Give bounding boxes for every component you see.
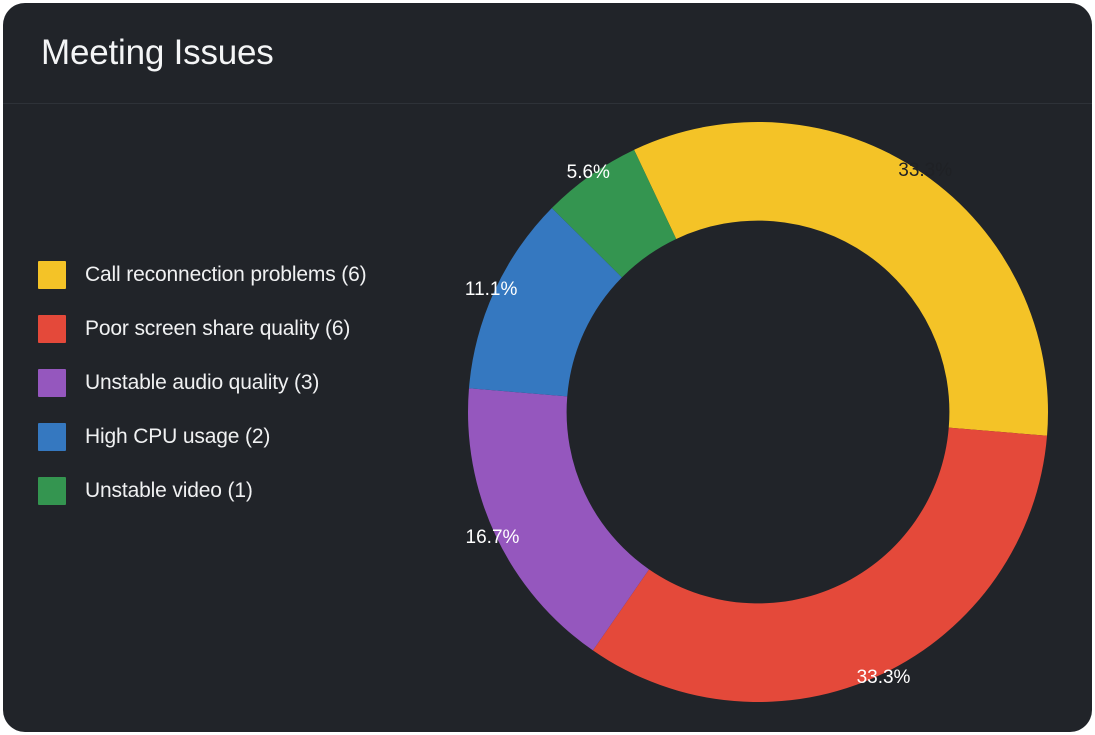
slice-percent-label: 33.3% bbox=[898, 160, 952, 181]
slice-percent-label: 33.3% bbox=[857, 667, 911, 688]
card-header: Meeting Issues bbox=[3, 3, 1092, 101]
donut-slice[interactable] bbox=[593, 428, 1047, 702]
card-body: Call reconnection problems (6)Poor scree… bbox=[3, 104, 1092, 732]
donut-slices bbox=[468, 122, 1048, 702]
slice-percent-label: 11.1% bbox=[465, 279, 518, 300]
slice-percent-label: 5.6% bbox=[567, 162, 610, 183]
page-title: Meeting Issues bbox=[41, 33, 274, 73]
meeting-issues-card: Meeting Issues Call reconnection problem… bbox=[3, 3, 1092, 732]
slice-percent-label: 16.7% bbox=[466, 527, 520, 548]
donut-chart: 33.3%33.3%16.7%11.1%5.6% bbox=[3, 104, 1092, 732]
donut-slice[interactable] bbox=[634, 122, 1048, 436]
donut-chart-svg: 33.3%33.3%16.7%11.1%5.6% bbox=[463, 117, 1053, 707]
